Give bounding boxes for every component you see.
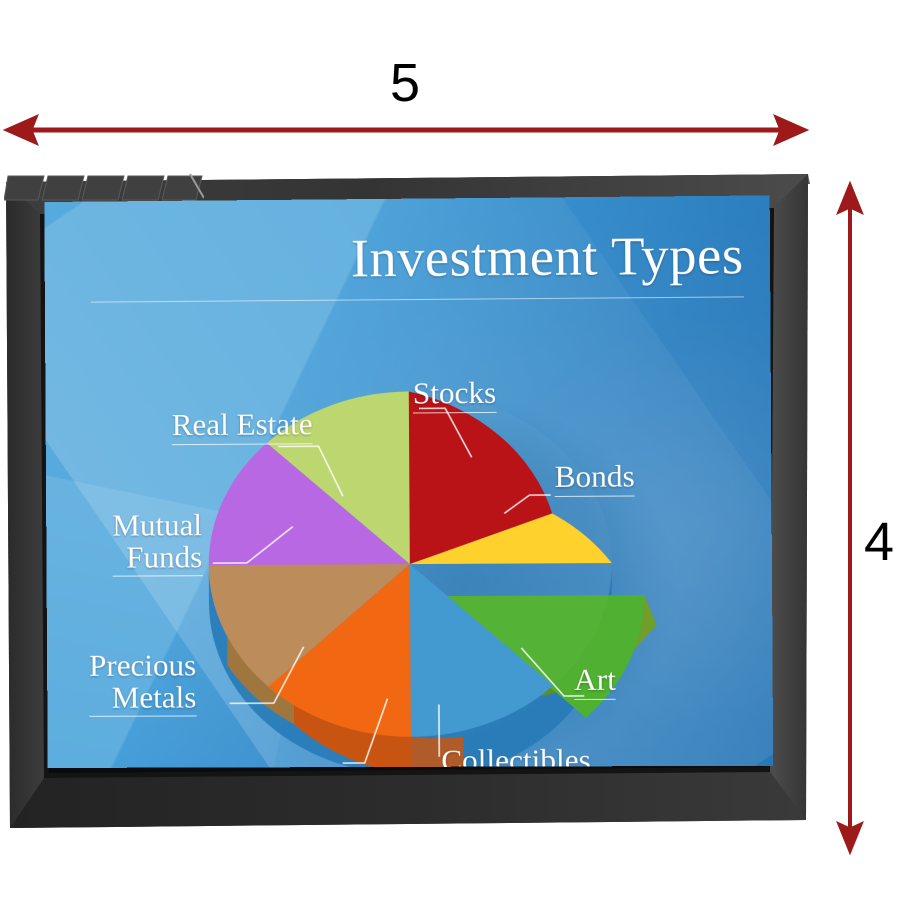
pie-label-art-text: Art — [574, 662, 616, 697]
monitor-button-3[interactable] — [82, 176, 124, 200]
pie-label-collectibles-text: Collectibles — [441, 742, 591, 768]
computer-monitor: Investment Types — [4, 172, 810, 832]
pie-label-precious-metals: Precious Metals — [89, 649, 196, 717]
monitor-button-4[interactable] — [122, 176, 164, 200]
width-dimension-label: 5 — [0, 56, 810, 110]
pie-label-mutual-funds-line1: Mutual — [112, 507, 202, 543]
pie-label-mutual-funds: Mutual Funds — [112, 509, 202, 577]
pie-label-mutual-funds-line2: Funds — [126, 539, 202, 574]
monitor-power-button[interactable] — [162, 176, 202, 200]
monitor-button-2[interactable] — [42, 176, 84, 200]
pie-label-art-rule — [574, 698, 616, 699]
pie-label-stocks: Stocks — [413, 377, 497, 413]
pie-chart: Stocks Bonds Art Collectibles — [44, 195, 773, 768]
monitor-screen: Investment Types — [44, 195, 773, 768]
pie-label-bonds: Bonds — [555, 460, 635, 496]
pie-label-art: Art — [574, 664, 616, 700]
pie-label-real-estate: Real Estate — [172, 408, 313, 445]
pie-label-collectibles: Collectibles — [441, 744, 591, 768]
screenshot-canvas: 5 4 — [0, 0, 900, 900]
slide-surface: Investment Types — [44, 195, 773, 768]
height-dimension-arrow — [830, 178, 870, 858]
pie-label-stocks-text: Stocks — [413, 375, 497, 411]
pie-label-precious-metals-line1: Precious — [89, 647, 196, 682]
pie-label-precious-metals-line2: Metals — [112, 679, 197, 714]
pie-label-bonds-text: Bonds — [555, 458, 635, 494]
width-dimension-arrow — [0, 110, 830, 150]
pie-label-real-estate-text: Real Estate — [172, 406, 313, 442]
monitor-button-1[interactable] — [4, 176, 44, 200]
monitor-control-buttons[interactable] — [4, 172, 204, 206]
